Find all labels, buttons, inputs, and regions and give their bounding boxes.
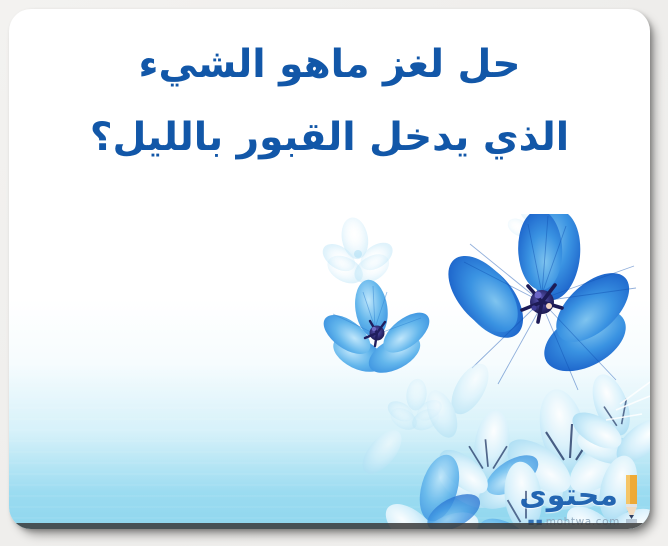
- watermark-brand-text: محتوى: [519, 478, 618, 513]
- pencil-icon: [623, 475, 640, 523]
- riddle-title: حل لغز ماهو الشيء الذي يدخل القبور باللي…: [9, 45, 650, 157]
- watermark-logo: محتوى ▪▪mohtwa.com: [494, 473, 644, 529]
- bottom-gradient-wash: [9, 299, 650, 529]
- bottom-edge-strip: [9, 523, 650, 529]
- gradient-banding-overlay: [9, 299, 650, 529]
- flower-decoration: [320, 214, 650, 529]
- title-line-1: حل لغز ماهو الشيء: [9, 45, 650, 84]
- content-card: حل لغز ماهو الشيء الذي يدخل القبور باللي…: [9, 9, 650, 529]
- title-line-2: الذي يدخل القبور بالليل؟: [9, 118, 650, 157]
- image-canvas: حل لغز ماهو الشيء الذي يدخل القبور باللي…: [0, 0, 668, 546]
